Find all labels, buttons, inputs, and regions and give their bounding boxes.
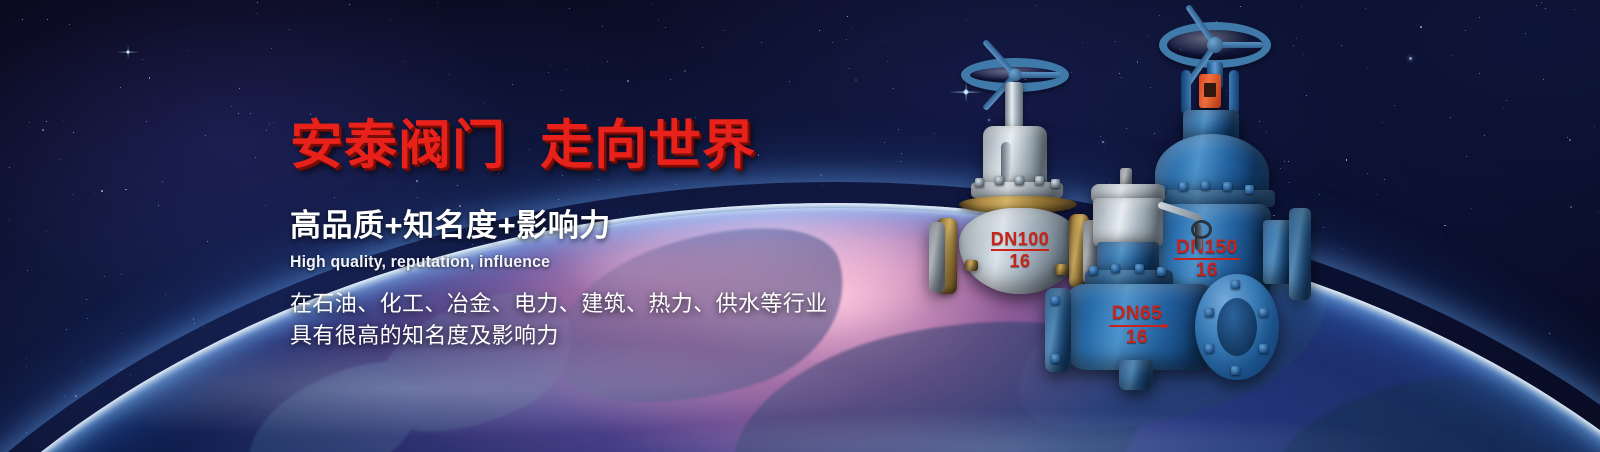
balance-valve-bore	[1217, 298, 1257, 356]
banner-copy: 安泰阀门走向世界 高品质+知名度+影响力 High quality, reput…	[290, 118, 930, 351]
globe-valve-pressure: 16	[1009, 251, 1030, 271]
page-title: 安泰阀门走向世界	[290, 118, 930, 174]
globe-valve-size: DN100	[991, 229, 1050, 249]
globe-valve-flange-left-face	[929, 222, 945, 292]
subtitle-cn: 高品质+知名度+影响力	[290, 200, 930, 245]
headline-right: 走向世界	[540, 116, 756, 175]
description-block: 在石油、化工、冶金、电力、建筑、热力、供水等行业 具有很高的知名度及影响力	[290, 288, 930, 352]
balance-valve-lock-arm	[1157, 201, 1203, 222]
description-line-1: 在石油、化工、冶金、电力、建筑、热力、供水等行业	[290, 288, 930, 320]
gate-valve-indicator	[1199, 74, 1221, 108]
balance-valve-drain	[1119, 360, 1153, 390]
hero-banner: 安泰阀门走向世界 高品质+知名度+影响力 High quality, reput…	[0, 0, 1600, 452]
balance-valve-pressure: 16	[1126, 327, 1148, 348]
gate-valve-yoke-left	[1181, 70, 1191, 114]
balance-valve-actuator	[1093, 198, 1163, 246]
balance-valve-label: DN65 16	[1087, 304, 1187, 347]
description-line-2: 具有很高的知名度及影响力	[290, 320, 930, 352]
headline-left: 安泰阀门	[290, 116, 506, 175]
gate-valve-yoke-right	[1229, 70, 1239, 114]
balance-valve-size: DN65	[1112, 303, 1163, 324]
balance-valve-key-ring-icon	[1191, 220, 1212, 239]
product-group: DN150 16	[905, 0, 1335, 452]
product-balance-valve[interactable]: DN65 16	[1045, 168, 1305, 398]
subtitle-en: High quality, reputation, influence	[290, 252, 885, 272]
